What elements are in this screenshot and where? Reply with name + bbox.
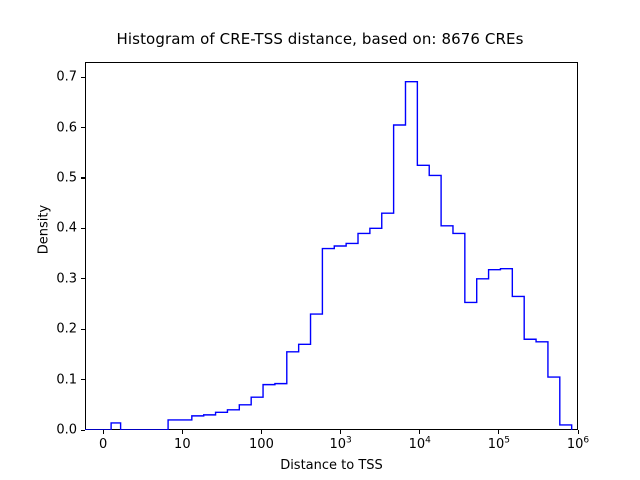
y-tick-label: 0.1 xyxy=(21,372,77,387)
y-tick-label: 0.6 xyxy=(21,120,77,135)
x-tick-mark xyxy=(578,430,579,434)
x-tick-mark xyxy=(340,430,341,434)
y-tick-mark xyxy=(81,228,85,229)
x-tick-label: 10 xyxy=(147,437,217,452)
y-tick-mark xyxy=(81,77,85,78)
x-tick-label: 0 xyxy=(68,437,138,452)
x-tick-mark xyxy=(182,430,183,434)
x-tick-mark xyxy=(419,430,420,434)
y-tick-mark xyxy=(81,278,85,279)
y-tick-mark xyxy=(81,329,85,330)
y-axis-label: Density xyxy=(37,170,52,290)
x-tick-mark xyxy=(103,430,104,434)
y-tick-mark xyxy=(81,379,85,380)
y-tick-label: 0.2 xyxy=(21,322,77,337)
x-axis-label: Distance to TSS xyxy=(85,458,578,473)
histogram-step-line xyxy=(85,62,578,430)
y-tick-mark xyxy=(81,177,85,178)
y-tick-label: 0.0 xyxy=(21,423,77,438)
x-tick-label: 104 xyxy=(385,437,455,452)
y-tick-mark xyxy=(81,127,85,128)
x-tick-label: 103 xyxy=(306,437,376,452)
x-tick-mark xyxy=(261,430,262,434)
y-tick-mark xyxy=(81,430,85,431)
density-step-polyline xyxy=(85,82,572,430)
x-tick-label: 100 xyxy=(226,437,296,452)
chart-title: Histogram of CRE-TSS distance, based on:… xyxy=(0,30,640,48)
x-tick-label: 106 xyxy=(543,437,613,452)
x-tick-mark xyxy=(498,430,499,434)
x-tick-label: 105 xyxy=(464,437,534,452)
y-tick-label: 0.7 xyxy=(21,70,77,85)
figure-canvas: Histogram of CRE-TSS distance, based on:… xyxy=(0,0,640,480)
